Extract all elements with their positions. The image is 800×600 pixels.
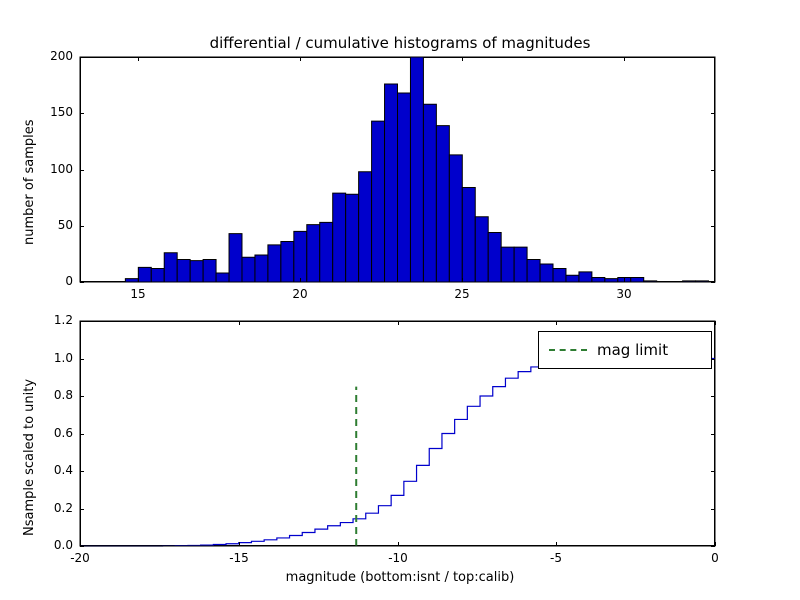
axis-tick [80, 113, 84, 114]
axis-tick [80, 321, 81, 325]
axis-tick [556, 321, 557, 325]
axis-tick-label: 200 [50, 49, 73, 63]
axis-tick-label: -10 [388, 551, 408, 565]
axis-tick [80, 434, 84, 435]
figure-xlabel: magnitude (bottom:isnt / top:calib) [0, 570, 800, 585]
axis-tick [556, 542, 557, 546]
axis-tick [715, 321, 716, 325]
axis-tick [138, 278, 139, 282]
axis-tick-label: 1.2 [54, 313, 73, 327]
axis-tick-label: 0.8 [54, 388, 73, 402]
axis-tick [711, 434, 715, 435]
axis-tick [80, 471, 84, 472]
axis-tick [711, 113, 715, 114]
axis-tick-label: -5 [550, 551, 562, 565]
axis-tick [80, 509, 84, 510]
axis-tick-label: 0 [65, 274, 73, 288]
axis-tick-label: 0 [711, 551, 719, 565]
axis-tick-label: 1.0 [54, 351, 73, 365]
axis-tick [711, 546, 715, 547]
axis-tick [80, 170, 84, 171]
axis-tick-label: 150 [50, 105, 73, 119]
axis-tick [138, 57, 139, 61]
axis-tick [239, 321, 240, 325]
axis-tick [80, 546, 84, 547]
axis-tick [300, 57, 301, 61]
axis-tick [80, 542, 81, 546]
axis-tick-label: 0.6 [54, 426, 73, 440]
axis-tick [711, 57, 715, 58]
axis-tick [711, 471, 715, 472]
axis-tick [711, 282, 715, 283]
cumulative-curve [80, 359, 715, 547]
legend-label-mag-limit: mag limit [597, 341, 668, 359]
axis-tick [462, 278, 463, 282]
axis-tick [711, 396, 715, 397]
axis-tick-label: 0.0 [54, 538, 73, 552]
axis-tick-label: 0.2 [54, 501, 73, 515]
axis-tick-label: 20 [292, 287, 307, 301]
axis-tick-label: 25 [454, 287, 469, 301]
axis-tick [711, 170, 715, 171]
axis-tick-label: 100 [50, 162, 73, 176]
axis-tick [715, 542, 716, 546]
mag-limit-line-icon [549, 349, 587, 351]
axis-tick [711, 226, 715, 227]
axis-tick [239, 542, 240, 546]
axis-tick [398, 542, 399, 546]
axis-tick [80, 57, 84, 58]
axis-tick [462, 57, 463, 61]
axis-tick-label: 15 [130, 287, 145, 301]
axis-tick [711, 359, 715, 360]
axis-tick-label: -15 [229, 551, 249, 565]
axis-tick [80, 226, 84, 227]
figure-canvas: differential / cumulative histograms of … [0, 0, 800, 600]
axis-tick [80, 282, 84, 283]
axis-tick [80, 396, 84, 397]
cumulative-plot [0, 0, 800, 600]
axis-tick-label: -20 [70, 551, 90, 565]
axis-tick [624, 278, 625, 282]
axis-tick-label: 30 [616, 287, 631, 301]
legend: mag limit [538, 331, 712, 369]
axis-tick-label: 0.4 [54, 463, 73, 477]
axis-tick-label: 50 [58, 218, 73, 232]
axis-tick [711, 509, 715, 510]
axis-tick [300, 278, 301, 282]
axis-tick [624, 57, 625, 61]
axis-tick [80, 359, 84, 360]
axis-tick [398, 321, 399, 325]
